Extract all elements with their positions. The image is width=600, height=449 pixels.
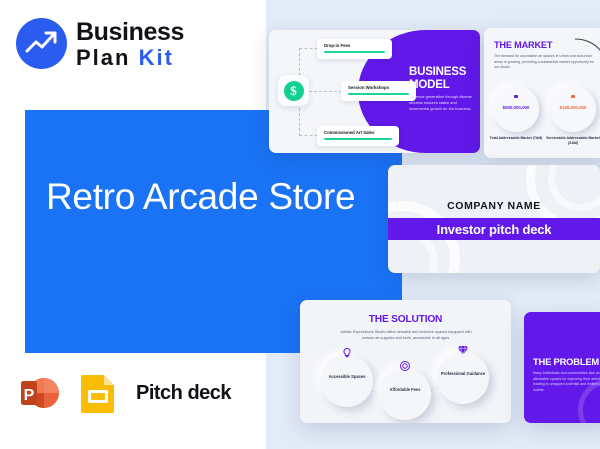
- slide-title: THE SOLUTION: [300, 314, 511, 325]
- logo-line-kit: Kit: [139, 45, 174, 70]
- logo-line-business: Business: [76, 20, 184, 45]
- slide-body-text: Artistic Expressions Studio offers versa…: [336, 330, 476, 342]
- list-item-label: Session Workshops: [348, 85, 409, 90]
- solution-node[interactable]: Professional Guidance: [437, 352, 489, 404]
- solution-node-label: Accessible Spaces: [321, 374, 373, 380]
- company-name: COMPANY NAME: [388, 200, 600, 212]
- diamond-icon: [457, 344, 469, 356]
- accent-bar: [324, 51, 385, 53]
- slide-the-solution[interactable]: THE SOLUTION Artistic Expressions Studio…: [300, 300, 511, 423]
- powerpoint-icon: P: [18, 370, 64, 416]
- slide-the-market[interactable]: THE MARKET The demand for accessible art…: [484, 28, 600, 158]
- accent-bar: [324, 138, 392, 140]
- slide-the-problem[interactable]: THE PROBLEM Many individuals and communi…: [524, 312, 600, 423]
- connector-line: [299, 135, 318, 136]
- list-item-label: Commissioned Art Sales: [324, 130, 392, 135]
- connector-line: [299, 48, 318, 49]
- slide-business-model[interactable]: $ Drop-in Fees Session Workshops Commiss…: [269, 30, 480, 153]
- solution-node[interactable]: Accessible Spaces: [321, 355, 373, 407]
- metric-value: $500,000,000: [493, 105, 539, 110]
- coin-circle-icon: [399, 360, 411, 372]
- format-label: Pitch deck: [136, 382, 231, 405]
- metric-caption: Total Addressable Market (TAM): [489, 136, 543, 141]
- slide-title: BUSINESS MODEL: [409, 66, 479, 91]
- accent-bar: [348, 93, 409, 95]
- solution-node-label: Affordable Fees: [379, 387, 431, 393]
- subtitle-bar: Investor pitch deck: [388, 218, 600, 240]
- slide-body-text: Revenue generation through diverse strea…: [409, 94, 475, 112]
- slide-body-text: Many individuals and communities lack ac…: [533, 371, 600, 393]
- metric-circle: $500,000,000 Total Addressable Market (T…: [493, 86, 539, 132]
- dollar-sign-icon: $: [278, 75, 309, 106]
- curved-arrow-icon: [574, 36, 600, 62]
- growth-arrow-circle-icon: [16, 18, 67, 69]
- google-slides-icon: [76, 370, 122, 416]
- square-marker-icon: [514, 95, 517, 98]
- slide-title: THE MARKET: [494, 40, 552, 50]
- slide-title: THE PROBLEM: [533, 356, 599, 367]
- subtitle-text: Investor pitch deck: [437, 222, 552, 237]
- square-marker-icon: [571, 95, 574, 98]
- svg-text:P: P: [24, 387, 35, 404]
- list-item[interactable]: Session Workshops: [341, 81, 416, 101]
- lightbulb-icon: [341, 347, 353, 359]
- slide-company-title[interactable]: COMPANY NAME Investor pitch deck: [388, 165, 600, 273]
- logo-line-plan: Plan: [76, 45, 130, 70]
- format-badges-row: P Pitch deck: [18, 370, 231, 416]
- page-title: Retro Arcade Store: [46, 175, 376, 219]
- solution-node[interactable]: Affordable Fees: [379, 368, 431, 420]
- metric-circle: $150,000,000 Serviceable Addressable Mar…: [550, 86, 596, 132]
- list-item[interactable]: Drop-in Fees: [317, 39, 392, 59]
- brand-logo: Business Plan Kit: [16, 18, 184, 69]
- metric-value: $150,000,000: [550, 105, 596, 110]
- connector-line: [309, 91, 342, 92]
- solution-node-label: Professional Guidance: [437, 371, 489, 377]
- list-item-label: Drop-in Fees: [324, 43, 385, 48]
- list-item[interactable]: Commissioned Art Sales: [317, 126, 399, 146]
- metric-caption: Serviceable Addressable Market (SAM): [546, 136, 600, 146]
